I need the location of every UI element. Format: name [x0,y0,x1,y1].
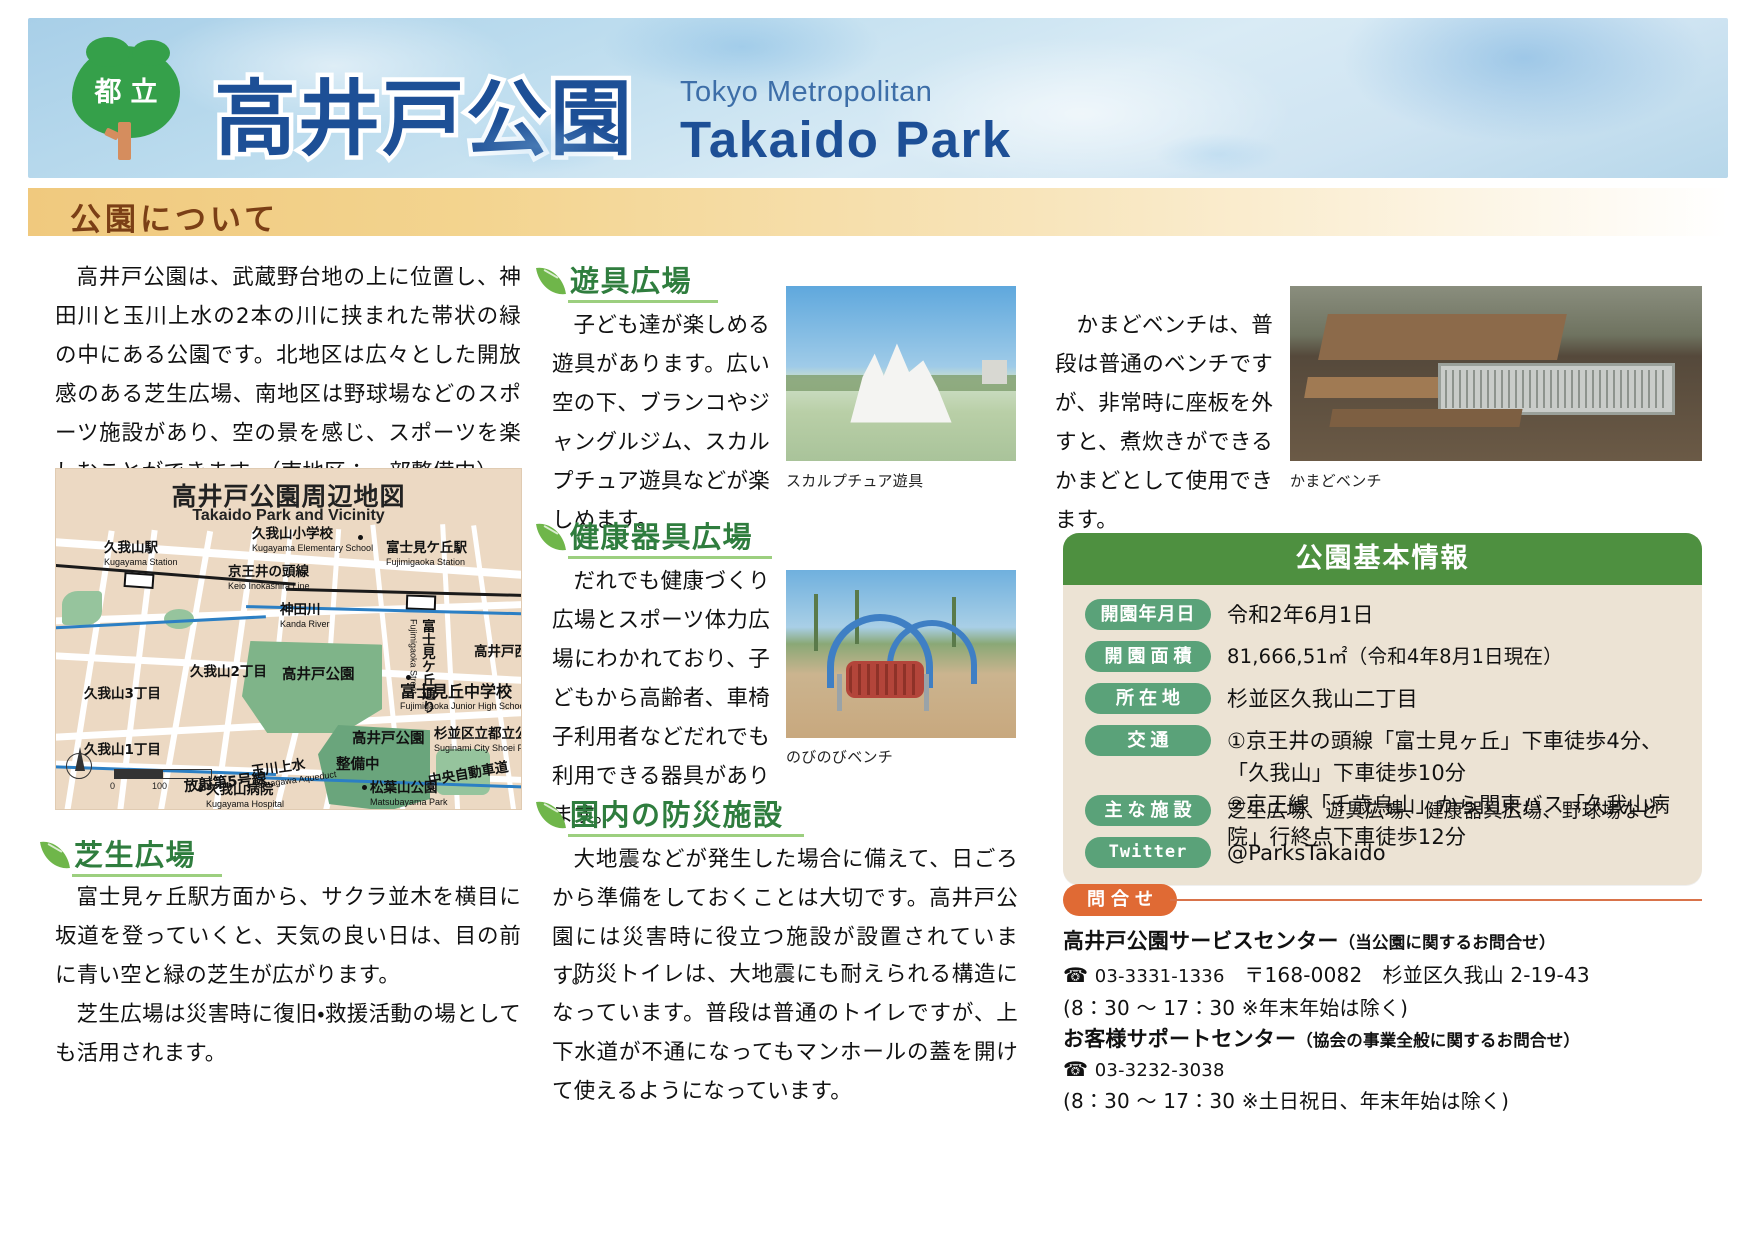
contact-hours-2: (8：30 〜 17：30 ※土日祝日、年末年始は除く) [1063,1085,1713,1114]
section-bar-about: 公園について [28,188,1728,236]
info-value-transport: ①京王井の頭線「富士見ヶ丘」下車徒歩4分、「久我山」下車徒歩10分 ②京王線「千… [1227,725,1683,853]
leaf-icon [40,838,70,871]
info-row-twitter[interactable]: Twitter @ParksTakaido [1085,837,1386,869]
map-label-kugayama-elementary: 久我山小学校 Kugayama Elementary School [252,527,373,553]
map-scale-max: 200m [198,781,221,791]
contact-tab-label: 問合せ [1063,884,1177,916]
contact-tab: 問合せ [1063,884,1177,916]
map-label-kugayama-2chome: 久我山2丁目 [190,665,267,681]
photo-sculpture-playground [786,286,1016,461]
header-banner: 都立 高井戸公園 Tokyo Metropolitan Takaido Park [28,18,1728,178]
map-park-north [242,641,382,733]
info-tag-transport: 交通 [1085,725,1211,756]
photo-kamado-bench [1290,286,1702,461]
map-label-kugayama-1chome: 久我山1丁目 [84,743,161,759]
contact-tel-line-2: ☎ 03-3232-3038 [1063,1057,1713,1081]
toritsu-tree-badge: 都立 [68,44,184,164]
page-title-ja: 高井戸公園 [214,52,634,171]
map-label-fujimigaoka-station: 富士見ケ丘駅 Fujimigaoka Station [386,541,467,567]
leaf-icon [536,264,566,297]
contact-address-1: 〒168-0082 杉並区久我山 2-19-43 [1244,963,1590,987]
map-label-takaido-nishi: 高井戸西三丁目 [474,645,522,661]
telephone-icon: ☎ [1063,963,1088,987]
info-tag-area: 開園面積 [1085,641,1211,672]
map-title-en: Takaido Park and Vicinity [56,507,521,525]
map-point-marker [362,785,367,790]
info-value-location: 杉並区久我山二丁目 [1227,683,1418,715]
info-value-area: 81,666,51㎡（令和4年8月1日現在） [1227,641,1563,673]
photo-nobinobi-bench [786,570,1016,738]
info-row-transport: 交通 ①京王井の頭線「富士見ヶ丘」下車徒歩4分、「久我山」下車徒歩10分 ②京王… [1085,725,1685,853]
map-point-marker [406,675,411,680]
shibafu-paragraph-1: 富士見ヶ丘駅方面から、サクラ並木を横目に坂道を登っていくと、天気の良い日は、目の… [55,878,521,995]
badge-label: 都立 [68,70,184,109]
info-row-location: 所在地 杉並区久我山二丁目 [1085,683,1418,715]
map-green-patch [62,591,102,625]
contact-entry-support-center: お客様サポートセンター（協会の事業全般に関するお問合せ） ☎ 03-3232-3… [1063,1023,1713,1114]
info-value-twitter-handle[interactable]: @ParksTakaido [1227,837,1386,869]
contact-tel-1[interactable]: 03-3331-1336 [1095,966,1225,987]
brochure-page: 都立 高井戸公園 Tokyo Metropolitan Takaido Park… [0,0,1755,1241]
info-panel-title: 公園基本情報 [1063,533,1702,585]
info-row-opening-date: 開園年月日 令和2年6月1日 [1085,599,1374,631]
map-label-matsubayama-park: 松葉山公園 Matsubayama Park [370,781,448,807]
page-title-en-big: Takaido Park [680,110,1012,169]
map-label-under-construction: 整備中 [336,757,380,774]
section-bar-label: 公園について [70,194,279,239]
map-label-kugayama-3chome: 久我山3丁目 [84,687,161,703]
caption-kamado-bench: かまどベンチ [1290,470,1382,491]
contact-tel-2[interactable]: 03-3232-3038 [1095,1060,1225,1081]
map-station-fujimigaoka [406,594,437,610]
shibafu-paragraph-2: 芝生広場は災害時に復旧・救援活動の場としても活用されます。 [55,995,521,1073]
page-title-en-small: Tokyo Metropolitan [680,76,932,109]
caption-nobinobi-bench: のびのびベンチ [786,746,893,767]
contact-hours-1: (8：30 〜 17：30 ※年末年始は除く) [1063,992,1713,1021]
telephone-icon: ☎ [1063,1057,1088,1081]
bousai-paragraph-2: 防災トイレは、大地震にも耐えられる構造になっています。普段は普通のトイレですが、… [552,955,1018,1111]
yuugu-paragraph: 子ども達が楽しめる遊具があります。広い空の下、ブランコやジャングルジム、スカルプ… [552,306,770,540]
info-panel-header: 公園基本情報 [1063,533,1702,585]
map-label-takaido-park-north: 高井戸公園 [282,667,355,684]
info-tag-location: 所在地 [1085,683,1211,714]
map-label-kanda-river: 神田川 Kanda River [280,603,330,629]
map-scale-mid: 100 [152,781,167,791]
info-row-facilities: 主な施設 芝生広場、遊具広場、健康器具広場、野球場など [1085,795,1660,827]
map-label-keio-inokashira-line: 京王井の頭線 Keio Inokashira Line [228,565,310,591]
info-value-facilities: 芝生広場、遊具広場、健康器具広場、野球場など [1227,795,1660,827]
park-basic-info-panel: 公園基本情報 開園年月日 令和2年6月1日 開園面積 81,666,51㎡（令和… [1063,533,1702,885]
map-scale-zero: 0 [110,781,115,791]
map-label-suginami-shoei-park: 杉並区立都立公園 Suginami City Shoei Pa [434,727,522,753]
contact-entry-service-center: 高井戸公園サービスセンター（当公園に関するお問合せ） ☎ 03-3331-133… [1063,925,1713,1021]
map-label-kugayama-station: 久我山駅 Kugayama Station [104,541,178,567]
map-point-marker [358,535,363,540]
contact-name-2: お客様サポートセンター（協会の事業全般に関するお問合せ） [1063,1023,1713,1053]
map-station-kugayama [124,572,155,589]
intro-paragraph: 高井戸公園は、武蔵野台地の上に位置し、神田川と玉川上水の2本の川に挟まれた帯状の… [55,258,521,492]
info-tag-twitter: Twitter [1085,837,1211,868]
contact-tel-line-1: ☎ 03-3331-1336 〒168-0082 杉並区久我山 2-19-43 [1063,959,1713,988]
vicinity-map: 高井戸公園周辺地図 Takaido Park and Vicinity 久我山駅… [55,468,522,810]
info-tag-facilities: 主な施設 [1085,795,1211,826]
map-label-takaido-park-south: 高井戸公園 [352,731,425,748]
map-scale-bar [114,769,212,779]
caption-sculpture-playground: スカルプチュア遊具 [786,470,923,491]
info-value-opening-date: 令和2年6月1日 [1227,599,1374,631]
info-tag-opening-date: 開園年月日 [1085,599,1211,630]
map-label-fujimigaoka-junior-high: 富士見丘中学校 Fujimigaoka Junior High School [400,683,522,712]
tree-trunk-icon [118,122,131,160]
contact-divider [1170,899,1702,901]
kamado-paragraph: かまどベンチは、普段は普通のベンチですが、非常時に座板を外すと、煮炊きができるか… [1055,306,1273,540]
info-row-area: 開園面積 81,666,51㎡（令和4年8月1日現在） [1085,641,1563,673]
map-compass-icon [66,741,92,781]
contact-name-1: 高井戸公園サービスセンター（当公園に関するお問合せ） [1063,925,1713,955]
